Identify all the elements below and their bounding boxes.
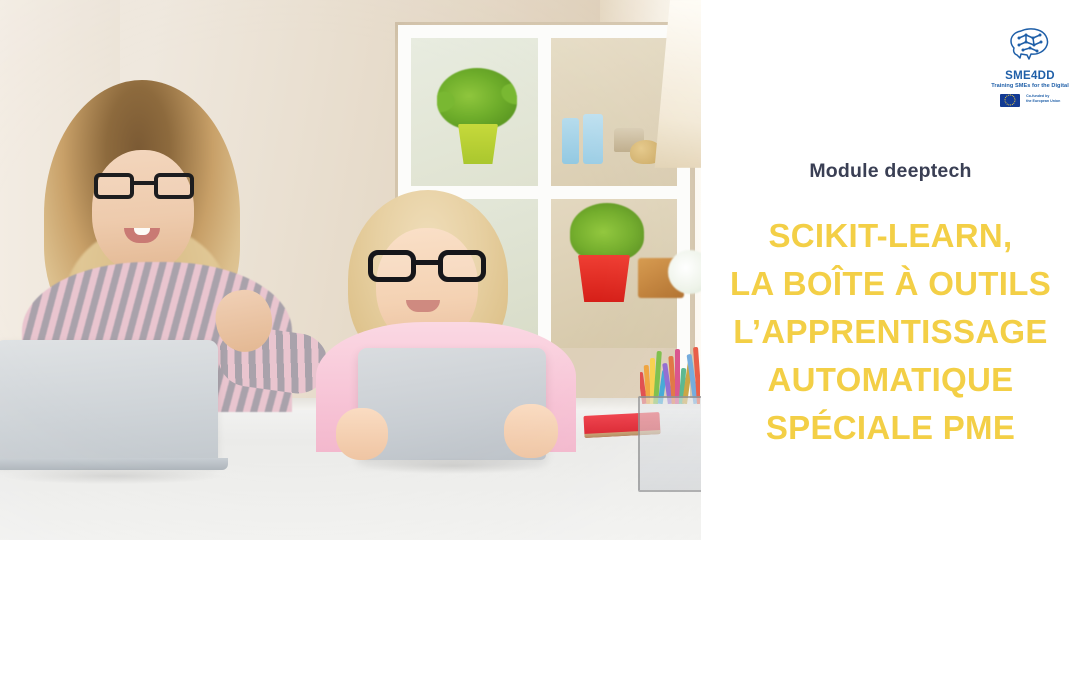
potted-plant-foliage-top	[437, 68, 517, 130]
title-line-3: L’APPRENTISSAGE	[701, 308, 1080, 356]
title-line-5: SPÉCIALE PME	[701, 404, 1080, 452]
eyeglass-bridge	[134, 181, 154, 185]
sme4dd-logo: SME4DD Training SMEs for the Digital Co-…	[984, 24, 1076, 106]
title-column: SME4DD Training SMEs for the Digital Co-…	[701, 0, 1080, 540]
girl-eyeglasses	[368, 250, 486, 284]
slide-root: SME4DD Training SMEs for the Digital Co-…	[0, 0, 1080, 675]
bottom-info-bar: 8 avril 2025 DISTANCIEL	[0, 540, 1080, 675]
module-kicker: Module deeptech	[701, 160, 1080, 183]
hero-photo	[0, 0, 701, 540]
potted-plant-foliage-bottom	[570, 203, 644, 261]
eyeglass-lens-left	[368, 250, 416, 282]
title-line-4: AUTOMATIQUE	[701, 356, 1080, 404]
red-flower-pot	[578, 255, 630, 302]
laptop-shadow	[4, 468, 220, 484]
eyeglass-bridge	[416, 260, 438, 265]
eyeglass-lens-right	[438, 250, 486, 282]
girl-hand-right	[504, 404, 558, 458]
sme4dd-brand-text: SME4DD	[984, 70, 1076, 82]
blue-candle-left	[562, 118, 579, 164]
title-line-2: LA BOÎTE À OUTILS	[701, 260, 1080, 308]
sme4dd-tagline: Training SMEs for the Digital	[984, 82, 1076, 90]
eu-badge-line1: Co-funded by	[1026, 94, 1049, 98]
colored-pencils	[640, 342, 700, 404]
eu-badge: Co-funded by the European Union	[984, 90, 1076, 108]
woman-eyeglasses	[94, 173, 194, 201]
eyeglass-lens-right	[154, 173, 194, 199]
title-line-1: SCIKIT-LEARN,	[701, 212, 1080, 260]
eu-badge-text: Co-funded by the European Union	[1026, 94, 1060, 104]
girl-hand-left	[336, 408, 388, 460]
eu-badge-line2: the European Union	[1026, 99, 1060, 103]
tablet-shadow	[364, 458, 542, 474]
laptop-lid	[0, 340, 218, 466]
pencil-holder	[638, 396, 701, 492]
lime-flower-pot	[458, 124, 498, 164]
eu-stars	[1004, 95, 1015, 106]
eu-flag-icon	[1000, 94, 1020, 107]
page-title: SCIKIT-LEARN, LA BOÎTE À OUTILS L’APPREN…	[701, 212, 1080, 452]
eyeglass-lens-left	[94, 173, 134, 199]
woman-face	[92, 150, 194, 272]
blue-candle-right	[583, 114, 603, 164]
brain-circuit-icon	[1007, 24, 1053, 64]
